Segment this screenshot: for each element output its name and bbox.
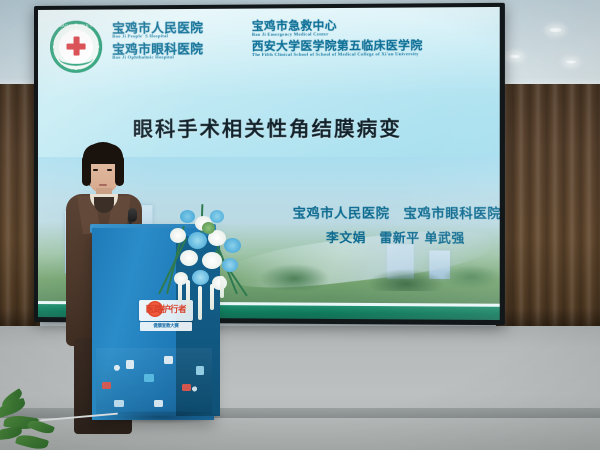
conference-photo-scene: BAOJI PEOPLE'S HOSPITAL 宝鸡市人民医院 Bao Ji P… <box>0 0 600 450</box>
slide-affiliation: 宝鸡市人民医院 宝鸡市眼科医院 <box>293 202 499 222</box>
illustration-chip <box>196 366 204 375</box>
slide-authors: 李文娟 雷新平 单武强 <box>293 227 499 247</box>
logo-sub-text: 健康宣教大赛 <box>139 323 193 329</box>
illustration-chip <box>102 382 111 389</box>
flower-blue <box>192 270 209 285</box>
hanging-petal <box>198 286 202 320</box>
flower-white <box>202 252 222 269</box>
org-name-cn: 宝鸡市眼科医院 <box>112 42 203 56</box>
emblem-ring-text: BAOJI PEOPLE'S HOSPITAL <box>50 24 102 32</box>
flower-blue <box>222 258 238 272</box>
mouth <box>99 184 107 186</box>
flower-blue <box>188 232 207 249</box>
org-name-en: The Fifth Clinical School of School of M… <box>252 52 423 58</box>
illustration-chip <box>164 356 173 364</box>
stage-curtain-right <box>496 84 600 334</box>
hair-side-right <box>115 156 124 186</box>
slide-header-band: BAOJI PEOPLE'S HOSPITAL 宝鸡市人民医院 Bao Ji P… <box>38 7 500 98</box>
flower-green <box>202 222 215 234</box>
org-entry: 西安大学医学院第五临床医学院 The Fifth Clinical School… <box>252 40 423 58</box>
flower-white <box>170 228 186 243</box>
org-column-left: 宝鸡市人民医院 Bao Ji People' S Hospital 宝鸡市眼科医… <box>112 21 203 63</box>
hanging-petal <box>186 280 190 310</box>
slide-byline: 宝鸡市人民医院 宝鸡市眼科医院 李文娟 雷新平 单武强 <box>293 202 499 246</box>
illustration-chip <box>154 400 163 407</box>
org-column-right: 宝鸡市急救中心 Bao Ji Emergency Medical Center … <box>252 20 423 61</box>
hanging-petal <box>178 282 182 302</box>
downlight-icon <box>565 60 577 64</box>
org-entry: 宝鸡市人民医院 Bao Ji People' S Hospital <box>112 21 203 39</box>
illustration-chip <box>126 360 134 369</box>
microphone-icon <box>128 208 137 222</box>
org-entry: 宝鸡市眼科医院 Bao Ji Ophthalmic Hospital <box>112 42 203 60</box>
illustration-chip <box>144 374 154 382</box>
hanging-petal <box>210 284 214 310</box>
slide-title: 眼科手术相关性角结膜病变 <box>38 112 500 142</box>
plant-leaf <box>15 432 49 450</box>
downlight-icon <box>548 27 563 33</box>
foreground-plant <box>0 392 80 450</box>
floral-arrangement <box>150 206 254 322</box>
wheat-wreath-icon <box>59 51 93 66</box>
flower-blue <box>210 210 224 223</box>
org-name-en: Bao Ji Emergency Medical Center <box>252 32 423 38</box>
eye-left <box>93 169 98 171</box>
hospital-emblem-icon: BAOJI PEOPLE'S HOSPITAL <box>50 21 102 73</box>
eye-right <box>107 169 112 171</box>
flower-blue <box>224 238 241 253</box>
flower-white <box>180 250 198 266</box>
illustration-chip <box>182 384 191 391</box>
flower-blue <box>180 210 195 223</box>
hanging-petal <box>220 276 224 298</box>
illustration-chip <box>114 400 124 407</box>
downlight-icon <box>508 54 521 59</box>
hair-side-left <box>82 156 91 186</box>
plant-leaf <box>27 417 55 436</box>
podium-illustration <box>96 348 212 414</box>
org-entry: 宝鸡市急救中心 Bao Ji Emergency Medical Center <box>252 20 423 38</box>
